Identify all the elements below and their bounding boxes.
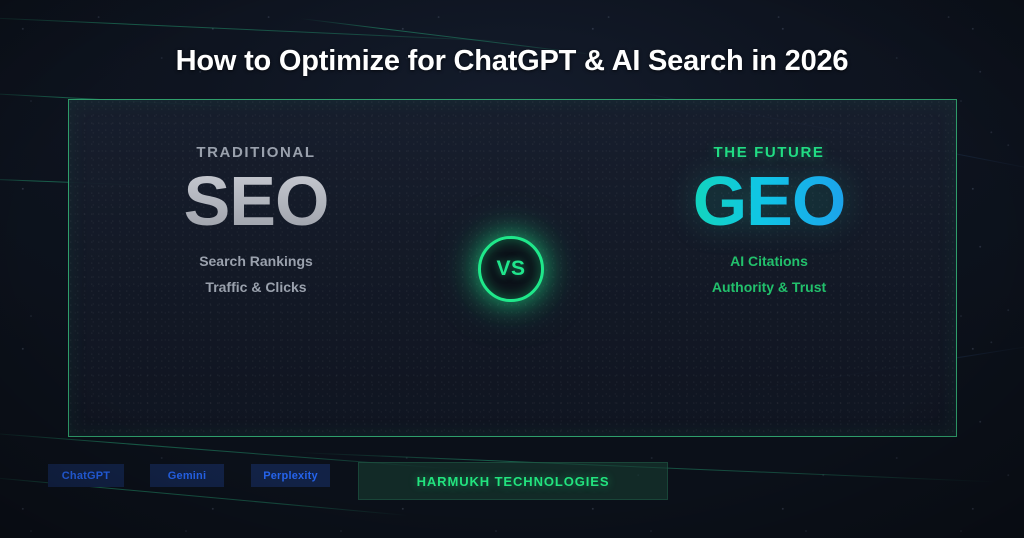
brand-name: HARMUKH TECHNOLOGIES: [417, 474, 610, 489]
geo-subline-list: AI Citations Authority & Trust: [604, 249, 934, 301]
geo-eyebrow-label: THE FUTURE: [604, 144, 934, 161]
seo-headline: SEO: [91, 166, 421, 237]
geo-column: THE FUTURE GEO AI Citations Authority & …: [604, 100, 934, 301]
chip-gemini[interactable]: Gemini: [150, 464, 224, 487]
slide-canvas: How to Optimize for ChatGPT & AI Search …: [0, 0, 1024, 538]
page-title: How to Optimize for ChatGPT & AI Search …: [0, 45, 1024, 78]
seo-subline: Search Rankings: [91, 249, 421, 275]
geo-subline: Authority & Trust: [604, 275, 934, 301]
seo-subline-list: Search Rankings Traffic & Clicks: [91, 249, 421, 301]
chip-label: ChatGPT: [62, 470, 110, 482]
brand-bar: HARMUKH TECHNOLOGIES: [358, 462, 668, 500]
geo-headline: GEO: [604, 166, 934, 237]
seo-eyebrow-label: TRADITIONAL: [91, 144, 421, 161]
seo-subline: Traffic & Clicks: [91, 275, 421, 301]
vs-badge: VS: [478, 236, 544, 302]
geo-subline: AI Citations: [604, 249, 934, 275]
background-streak-line: [0, 16, 519, 42]
chip-chatgpt[interactable]: ChatGPT: [48, 464, 124, 487]
chip-label: Perplexity: [263, 470, 318, 482]
footer-row: ChatGPT Gemini Perplexity HARMUKH TECHNO…: [0, 464, 1024, 504]
chip-perplexity[interactable]: Perplexity: [251, 464, 330, 487]
vs-label: VS: [496, 257, 525, 281]
chip-label: Gemini: [168, 470, 207, 482]
seo-column: TRADITIONAL SEO Search Rankings Traffic …: [91, 100, 421, 301]
